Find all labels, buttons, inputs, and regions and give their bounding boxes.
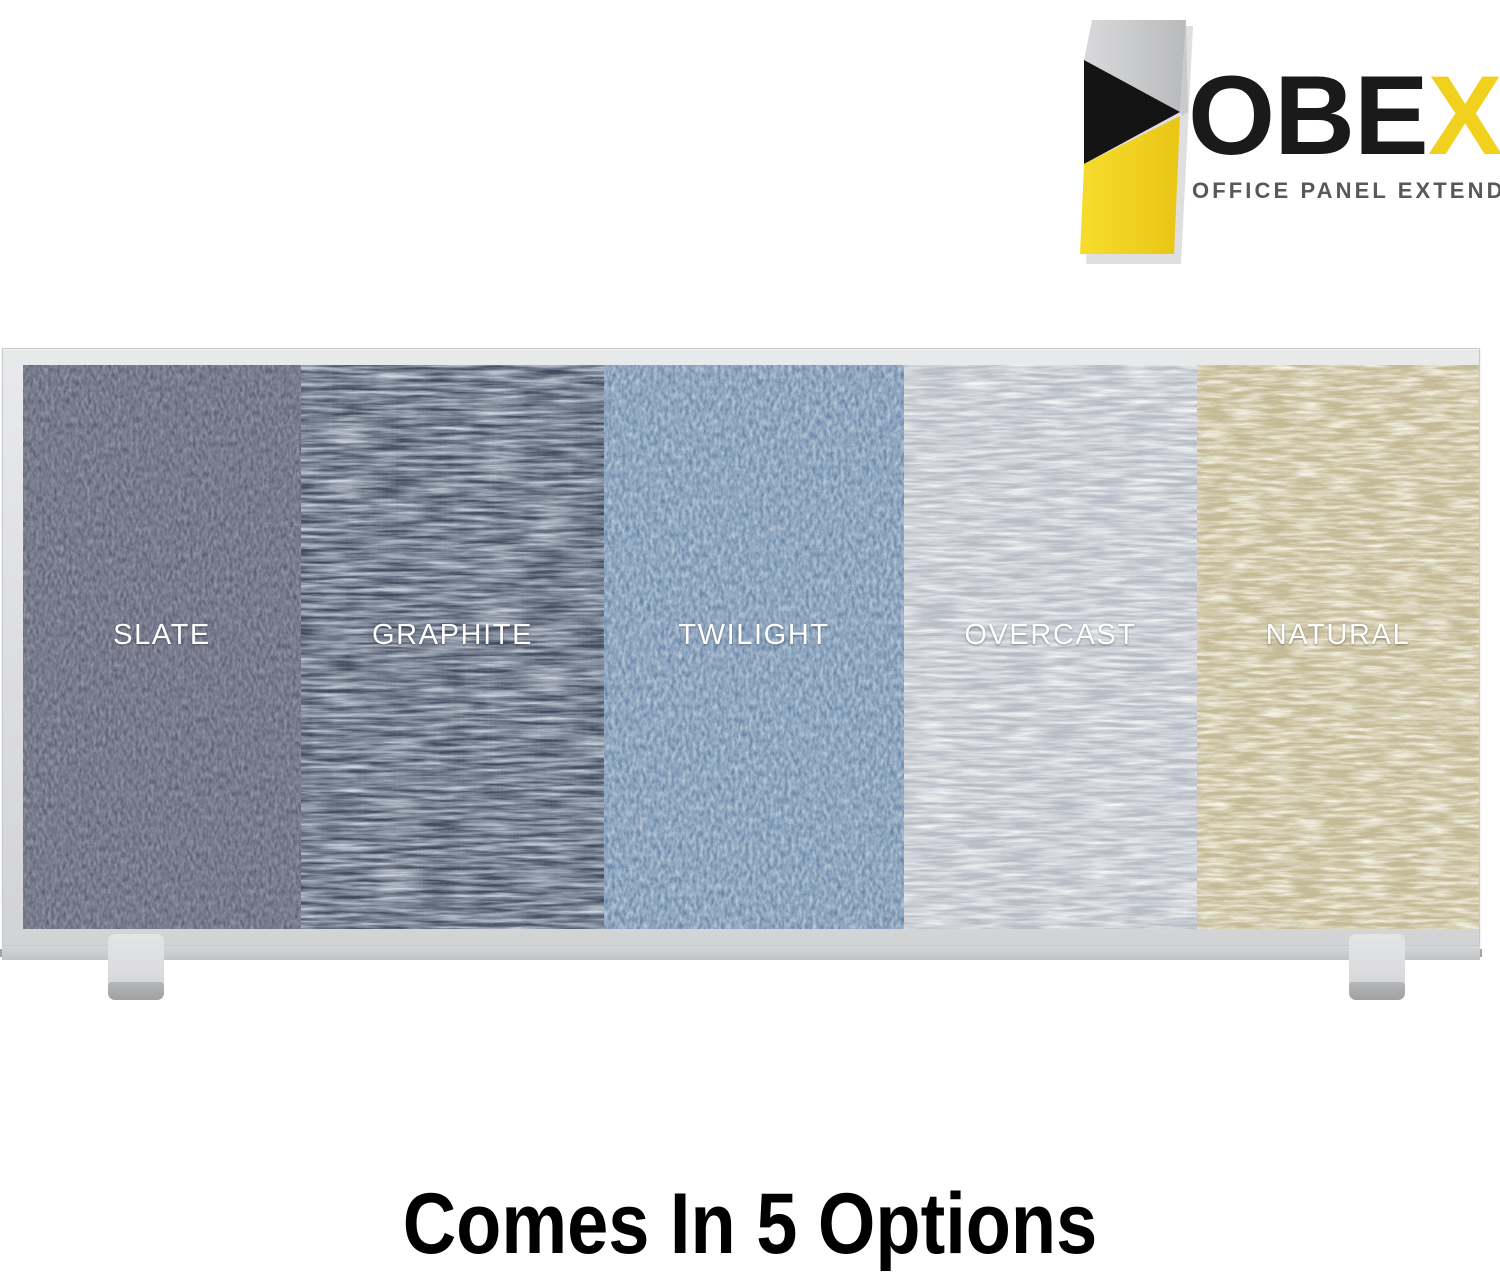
swatch-label-graphite: GRAPHITE xyxy=(301,619,604,652)
frame-bottom-rail xyxy=(2,946,1480,960)
bracket-foot xyxy=(1349,982,1405,1000)
caption-text: Comes In 5 Options xyxy=(105,1176,1395,1272)
swatch-label-slate: SLATE xyxy=(23,619,301,652)
bracket-foot xyxy=(108,982,164,1000)
swatch-label-twilight: TWILIGHT xyxy=(604,619,904,652)
mounting-bracket-left[interactable] xyxy=(108,934,164,1002)
swatch-overcast[interactable]: OVERCAST xyxy=(904,365,1197,929)
obex-wordmark: OBEX OFFICE PANEL EXTENDERS xyxy=(1188,60,1478,205)
fabric-swatch-strip: SLATE xyxy=(23,365,1479,929)
swatch-twilight[interactable]: TWILIGHT xyxy=(604,365,904,929)
swatch-natural[interactable]: NATURAL xyxy=(1197,365,1479,929)
panel-frame: SLATE xyxy=(2,348,1480,946)
obex-wordmark-accent: X xyxy=(1428,53,1500,178)
swatch-slate[interactable]: SLATE xyxy=(23,365,301,929)
obex-logo: OBEX OFFICE PANEL EXTENDERS xyxy=(1070,8,1470,263)
swatch-label-overcast: OVERCAST xyxy=(904,619,1197,652)
swatch-graphite[interactable]: GRAPHITE xyxy=(301,365,604,929)
obex-logo-mark xyxy=(1070,12,1195,264)
panel-assembly: SLATE xyxy=(0,348,1486,1008)
obex-tagline: OFFICE PANEL EXTENDERS xyxy=(1192,178,1500,204)
obex-wordmark-dark: OBE xyxy=(1188,53,1428,178)
obex-wordmark-text: OBEX xyxy=(1188,60,1500,172)
swatch-label-natural: NATURAL xyxy=(1197,619,1479,652)
mounting-bracket-right[interactable] xyxy=(1349,934,1405,1002)
